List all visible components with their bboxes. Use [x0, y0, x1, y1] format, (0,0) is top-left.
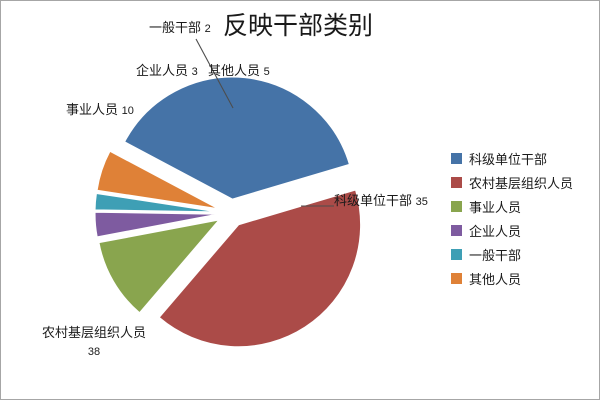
legend-item-5[interactable]: 一般干部 — [451, 242, 591, 266]
data-label-qiye-name: 企业人员 — [136, 63, 188, 78]
data-label-qita-name: 其他人员 — [208, 63, 260, 78]
legend-item-label: 一般干部 — [469, 245, 521, 264]
legend-swatch-icon — [451, 153, 462, 164]
legend-item-3[interactable]: 事业人员 — [451, 194, 591, 218]
legend-item-label: 其他人员 — [469, 269, 521, 288]
pie-slices-group — [95, 77, 361, 347]
legend-swatch-icon — [451, 201, 462, 212]
legend-item-label: 科级单位干部 — [469, 149, 547, 168]
chart-title: 反映干部类别 — [223, 11, 373, 41]
legend-item-label: 农村基层组织人员 — [469, 173, 573, 192]
legend-swatch-icon — [451, 225, 462, 236]
legend-item-6[interactable]: 其他人员 — [451, 266, 591, 290]
data-label-yiban-name: 一般干部 — [149, 20, 201, 35]
data-label-nongcun-value: 38 — [88, 346, 100, 358]
plot-area: 反映干部类别 科级单位干部 35 农村基层组织人员 38 事业人员 10 企业人… — [1, 1, 441, 399]
data-label-nongcun-name: 农村基层组织人 — [42, 325, 133, 340]
legend-swatch-icon — [451, 273, 462, 284]
data-label-nongcun-name2: 员 — [133, 325, 146, 340]
data-label-shiye-value: 10 — [122, 105, 134, 117]
data-label-keji-name: 科级单位干部 — [334, 193, 412, 208]
legend-item-4[interactable]: 企业人员 — [451, 218, 591, 242]
data-label-qita: 其他人员 5 — [208, 63, 270, 80]
data-label-nongcun: 农村基层组织人员 38 — [39, 324, 149, 361]
legend-item-label: 企业人员 — [469, 221, 521, 240]
legend-item-2[interactable]: 农村基层组织人员 — [451, 170, 591, 194]
legend-swatch-icon — [451, 249, 462, 260]
data-label-shiye-name: 事业人员 — [66, 102, 118, 117]
data-label-qita-value: 5 — [264, 66, 270, 78]
data-label-shiye: 事业人员 10 — [66, 102, 134, 119]
legend-item-label: 事业人员 — [469, 197, 521, 216]
data-label-yiban: 一般干部 2 — [149, 20, 211, 37]
chart-legend: 科级单位干部农村基层组织人员事业人员企业人员一般干部其他人员 — [451, 146, 591, 290]
data-label-yiban-value: 2 — [205, 23, 211, 35]
legend-swatch-icon — [451, 177, 462, 188]
legend-item-1[interactable]: 科级单位干部 — [451, 146, 591, 170]
data-label-keji: 科级单位干部 35 — [334, 193, 428, 210]
data-label-keji-value: 35 — [416, 196, 428, 208]
pie-chart-figure: 反映干部类别 科级单位干部 35 农村基层组织人员 38 事业人员 10 企业人… — [0, 0, 600, 400]
data-label-qiye: 企业人员 3 — [136, 63, 198, 80]
data-label-qiye-value: 3 — [192, 66, 198, 78]
